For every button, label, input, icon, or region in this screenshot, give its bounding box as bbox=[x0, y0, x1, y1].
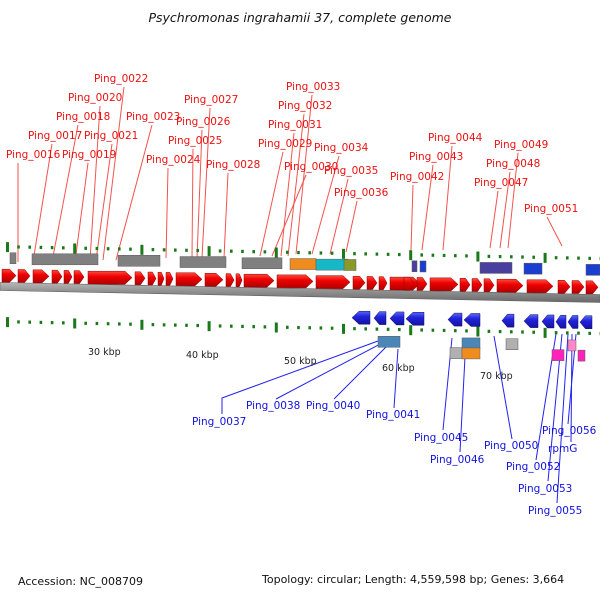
tick-mark bbox=[196, 324, 199, 327]
tick-mark bbox=[465, 329, 468, 332]
gene-label-reverse[interactable]: Ping_0041 bbox=[366, 409, 420, 421]
gene-label-forward[interactable]: Ping_0028 bbox=[206, 159, 260, 171]
gene-label-forward[interactable]: Ping_0043 bbox=[409, 151, 463, 163]
tick-mark bbox=[353, 327, 356, 330]
tick-mark bbox=[152, 248, 155, 251]
gene-arrow[interactable] bbox=[277, 275, 313, 288]
tick-mark bbox=[577, 257, 580, 260]
tick-mark bbox=[286, 251, 289, 254]
gene-arrow[interactable] bbox=[472, 279, 482, 292]
gene-arrow[interactable] bbox=[148, 272, 156, 285]
domain-block[interactable] bbox=[180, 257, 226, 268]
tick-mark bbox=[174, 323, 177, 326]
tick-mark bbox=[140, 245, 143, 255]
tick-mark bbox=[219, 249, 222, 252]
gene-label-forward[interactable]: Ping_0016 bbox=[6, 149, 61, 161]
genome-map-canvas[interactable]: Psychromonas ingrahamii 37, complete gen… bbox=[0, 0, 600, 600]
tick-mark bbox=[264, 325, 267, 328]
domain-block[interactable] bbox=[420, 261, 426, 272]
leader-line bbox=[494, 336, 512, 439]
gene-arrow[interactable] bbox=[166, 272, 173, 285]
tick-mark bbox=[387, 253, 390, 256]
domain-block[interactable] bbox=[344, 260, 356, 271]
tick-mark bbox=[532, 256, 535, 259]
tick-mark bbox=[219, 324, 222, 327]
gene-arrow[interactable] bbox=[374, 312, 386, 325]
domain-block[interactable] bbox=[552, 350, 564, 361]
gene-arrow[interactable] bbox=[558, 280, 570, 293]
tick-mark bbox=[499, 330, 502, 333]
tick-mark bbox=[521, 255, 524, 258]
gene-label-forward[interactable]: Ping_0036 bbox=[334, 187, 389, 199]
tick-mark bbox=[208, 246, 211, 256]
gene-label-forward[interactable]: Ping_0022 bbox=[94, 73, 148, 85]
tick-mark bbox=[241, 325, 244, 328]
gene-label-forward[interactable]: Ping_0018 bbox=[56, 111, 110, 123]
tick-mark bbox=[196, 249, 199, 252]
tick-mark bbox=[40, 321, 43, 324]
tick-mark bbox=[555, 331, 558, 334]
gene-arrow[interactable] bbox=[586, 281, 598, 294]
genome-map-view: Psychromonas ingrahamii 37, complete gen… bbox=[0, 0, 600, 600]
tick-mark bbox=[409, 325, 412, 335]
tick-mark bbox=[230, 250, 233, 253]
gene-arrow[interactable] bbox=[135, 272, 145, 285]
tick-mark bbox=[129, 323, 132, 326]
gene-arrow[interactable] bbox=[556, 315, 566, 328]
tick-mark bbox=[398, 253, 401, 256]
tick-mark bbox=[96, 247, 99, 250]
leader-line bbox=[166, 168, 168, 258]
tick-mark bbox=[566, 256, 569, 259]
gene-arrow[interactable] bbox=[33, 270, 49, 283]
gene-label-forward[interactable]: Ping_0024 bbox=[146, 154, 201, 166]
gene-arrow[interactable] bbox=[542, 315, 554, 328]
gene-arrow[interactable] bbox=[417, 277, 427, 290]
tick-mark bbox=[140, 320, 143, 330]
gene-arrow[interactable] bbox=[406, 312, 424, 325]
gene-arrow[interactable] bbox=[352, 311, 370, 324]
domain-block[interactable] bbox=[462, 348, 480, 359]
tick-mark bbox=[320, 326, 323, 329]
tick-mark bbox=[73, 243, 76, 253]
gene-label-reverse[interactable]: Ping_0038 bbox=[246, 400, 300, 412]
tick-mark bbox=[84, 247, 87, 250]
gene-label-forward[interactable]: Ping_0019 bbox=[62, 149, 116, 161]
tick-mark bbox=[364, 252, 367, 255]
scale-tick-label: 50 kbp bbox=[284, 356, 317, 367]
gene-label-reverse[interactable]: Ping_0055 bbox=[528, 505, 582, 517]
domain-block[interactable] bbox=[290, 259, 316, 270]
gene-arrow[interactable] bbox=[390, 312, 404, 325]
tick-mark bbox=[275, 247, 278, 257]
gene-label-forward[interactable]: Ping_0048 bbox=[486, 158, 540, 170]
leader-line bbox=[197, 130, 202, 258]
leader-line bbox=[411, 185, 413, 250]
forward-gene-labels[interactable]: Ping_0016Ping_0017Ping_0018Ping_0019Ping… bbox=[6, 73, 578, 215]
tick-mark bbox=[17, 245, 20, 248]
domain-block[interactable] bbox=[450, 348, 462, 359]
tick-mark bbox=[51, 321, 54, 324]
leader-line bbox=[490, 191, 498, 248]
scale-tick-label: 30 kbp bbox=[88, 347, 121, 358]
tick-mark bbox=[308, 326, 311, 329]
tick-mark bbox=[230, 325, 233, 328]
tick-mark bbox=[174, 248, 177, 251]
tick-mark bbox=[185, 324, 188, 327]
tick-mark bbox=[129, 248, 132, 251]
tick-mark bbox=[118, 322, 121, 325]
domain-block[interactable] bbox=[10, 253, 16, 264]
leader-line bbox=[281, 133, 294, 256]
domain-block[interactable] bbox=[118, 255, 160, 266]
tick-mark bbox=[252, 250, 255, 253]
tick-mark bbox=[476, 327, 479, 337]
tick-mark bbox=[409, 250, 412, 260]
gene-label-reverse[interactable]: Ping_0050 bbox=[484, 440, 538, 452]
gene-label-forward[interactable]: Ping_0031 bbox=[268, 119, 322, 131]
gene-label-forward[interactable]: Ping_0032 bbox=[278, 100, 332, 112]
gene-label-reverse[interactable]: Ping_0040 bbox=[306, 400, 360, 412]
domain-block[interactable] bbox=[462, 338, 480, 349]
tick-mark bbox=[588, 257, 591, 260]
domain-block[interactable] bbox=[32, 254, 98, 265]
tick-mark bbox=[275, 322, 278, 332]
domain-block[interactable] bbox=[578, 350, 585, 361]
tick-mark bbox=[28, 246, 31, 249]
tick-mark bbox=[152, 323, 155, 326]
leader-line bbox=[33, 144, 52, 262]
tick-mark bbox=[376, 253, 379, 256]
tick-mark bbox=[208, 321, 211, 331]
gene-label-reverse[interactable]: Ping_0056 bbox=[542, 425, 597, 437]
gene-arrow[interactable] bbox=[524, 315, 538, 328]
tick-mark bbox=[73, 318, 76, 328]
tick-mark bbox=[544, 328, 547, 338]
tick-mark bbox=[118, 247, 121, 250]
tick-mark bbox=[544, 253, 547, 263]
gene-arrow[interactable] bbox=[64, 270, 72, 283]
leader-line bbox=[52, 125, 78, 262]
tick-mark bbox=[521, 330, 524, 333]
tick-mark bbox=[297, 326, 300, 329]
gene-label-forward[interactable]: Ping_0035 bbox=[324, 165, 378, 177]
leader-line bbox=[202, 108, 210, 258]
page-title: Psychromonas ingrahamii 37, complete gen… bbox=[148, 10, 451, 25]
gene-label-reverse[interactable]: Ping_0046 bbox=[430, 454, 485, 466]
gene-label-forward[interactable]: Ping_0047 bbox=[474, 177, 528, 189]
domain-block[interactable] bbox=[480, 262, 512, 273]
tick-mark bbox=[40, 246, 43, 249]
tick-mark bbox=[252, 325, 255, 328]
tick-mark bbox=[107, 247, 110, 250]
leader-line bbox=[276, 341, 386, 399]
tick-mark bbox=[510, 330, 513, 333]
tick-mark bbox=[476, 252, 479, 262]
gene-label-forward[interactable]: Ping_0033 bbox=[286, 81, 340, 93]
gene-arrow[interactable] bbox=[430, 278, 458, 291]
tick-mark bbox=[443, 254, 446, 257]
tick-mark bbox=[432, 329, 435, 332]
tick-mark bbox=[376, 328, 379, 331]
gene-arrow[interactable] bbox=[367, 276, 377, 289]
tick-mark bbox=[62, 246, 65, 249]
tick-mark bbox=[488, 330, 491, 333]
tick-mark bbox=[353, 252, 356, 255]
tick-mark bbox=[443, 329, 446, 332]
tick-mark bbox=[387, 328, 390, 331]
tick-mark bbox=[84, 322, 87, 325]
gene-label-forward[interactable]: Ping_0021 bbox=[84, 130, 138, 142]
tick-mark bbox=[96, 322, 99, 325]
domain-block[interactable] bbox=[568, 340, 576, 351]
tick-mark bbox=[532, 331, 535, 334]
tick-mark bbox=[51, 246, 54, 249]
gene-label-forward[interactable]: Ping_0023 bbox=[126, 111, 180, 123]
leader-line bbox=[346, 201, 357, 252]
accession-label: Accession: NC_008709 bbox=[18, 575, 143, 588]
tick-mark bbox=[420, 328, 423, 331]
tick-mark bbox=[588, 332, 591, 335]
scale-tick-label: 70 kbp bbox=[480, 371, 513, 382]
gene-arrow[interactable] bbox=[74, 271, 84, 284]
tick-mark bbox=[308, 251, 311, 254]
leader-line bbox=[116, 125, 152, 260]
leader-line bbox=[224, 173, 228, 258]
gene-label-forward[interactable]: Ping_0025 bbox=[168, 135, 222, 147]
gene-arrow[interactable] bbox=[244, 274, 274, 287]
gene-arrow[interactable] bbox=[527, 280, 553, 293]
gene-arrow[interactable] bbox=[497, 279, 523, 292]
leader-line bbox=[547, 217, 562, 246]
gene-label-reverse[interactable]: Ping_0053 bbox=[518, 483, 572, 495]
gene-arrow[interactable] bbox=[205, 273, 223, 286]
tick-mark bbox=[185, 249, 188, 252]
reverse-gene-arrows[interactable] bbox=[352, 311, 592, 329]
domain-block[interactable] bbox=[586, 264, 600, 275]
gene-arrow[interactable] bbox=[464, 313, 480, 326]
domain-block[interactable] bbox=[524, 263, 542, 274]
tick-mark bbox=[566, 331, 569, 334]
gene-label-forward[interactable]: Ping_0026 bbox=[176, 116, 231, 128]
tick-mark bbox=[6, 317, 9, 327]
gene-arrow[interactable] bbox=[52, 270, 62, 283]
tick-mark bbox=[163, 248, 166, 251]
gene-arrow[interactable] bbox=[88, 271, 132, 284]
tick-mark bbox=[488, 255, 491, 258]
gene-arrow[interactable] bbox=[379, 277, 387, 290]
leader-line bbox=[260, 152, 283, 256]
scale-tick-label: 60 kbp bbox=[382, 363, 415, 374]
tick-mark bbox=[241, 250, 244, 253]
genome-stats-label: Topology: circular; Length: 4,559,598 bp… bbox=[261, 573, 564, 586]
tick-mark bbox=[107, 322, 110, 325]
gene-label-reverse[interactable]: Ping_0037 bbox=[192, 416, 246, 428]
gene-arrow[interactable] bbox=[572, 281, 584, 294]
gene-label-forward[interactable]: Ping_0051 bbox=[524, 203, 578, 215]
scale-tick-label: 40 kbp bbox=[186, 350, 219, 361]
gene-arrow[interactable] bbox=[484, 279, 494, 292]
gene-arrow[interactable] bbox=[226, 274, 234, 287]
tick-mark bbox=[286, 326, 289, 329]
gene-arrow[interactable] bbox=[316, 276, 350, 289]
gene-label-reverse[interactable]: rpmG bbox=[548, 443, 577, 455]
tick-mark bbox=[342, 249, 345, 259]
gene-label-forward[interactable]: Ping_0020 bbox=[68, 92, 122, 104]
gene-arrow[interactable] bbox=[353, 276, 365, 289]
tick-mark bbox=[398, 328, 401, 331]
gene-label-reverse[interactable]: Ping_0052 bbox=[506, 461, 560, 473]
tick-mark bbox=[17, 320, 20, 323]
gene-arrow[interactable] bbox=[448, 313, 462, 326]
gene-label-forward[interactable]: Ping_0049 bbox=[494, 139, 548, 151]
tick-mark bbox=[465, 254, 468, 257]
gene-arrow[interactable] bbox=[158, 272, 164, 285]
tick-mark bbox=[454, 329, 457, 332]
tick-mark bbox=[264, 250, 267, 253]
tick-mark bbox=[163, 323, 166, 326]
domain-block[interactable] bbox=[506, 339, 518, 350]
gene-arrow[interactable] bbox=[580, 316, 592, 329]
tick-mark bbox=[432, 254, 435, 257]
gene-label-reverse[interactable]: Ping_0045 bbox=[414, 432, 468, 444]
gene-label-forward[interactable]: Ping_0029 bbox=[258, 138, 312, 150]
tick-mark bbox=[320, 251, 323, 254]
tick-mark bbox=[555, 256, 558, 259]
domain-block[interactable] bbox=[378, 336, 400, 347]
tick-mark bbox=[28, 321, 31, 324]
gene-arrow[interactable] bbox=[2, 269, 16, 282]
gene-arrow[interactable] bbox=[502, 314, 514, 327]
gene-arrow[interactable] bbox=[18, 269, 30, 282]
tick-mark bbox=[331, 252, 334, 255]
tick-mark bbox=[62, 321, 65, 324]
gene-arrow[interactable] bbox=[568, 315, 578, 328]
gene-arrow[interactable] bbox=[176, 273, 202, 286]
leader-line bbox=[394, 349, 398, 408]
tick-mark bbox=[297, 251, 300, 254]
gene-arrow[interactable] bbox=[460, 278, 470, 291]
gene-arrow[interactable] bbox=[236, 274, 242, 287]
domain-block[interactable] bbox=[242, 258, 282, 269]
gene-label-forward[interactable]: Ping_0044 bbox=[428, 132, 483, 144]
domain-block[interactable] bbox=[412, 261, 417, 272]
tick-mark bbox=[331, 327, 334, 330]
tick-mark bbox=[510, 255, 513, 258]
domain-block[interactable] bbox=[316, 259, 348, 270]
tick-mark bbox=[364, 327, 367, 330]
tick-mark bbox=[420, 253, 423, 256]
tick-mark bbox=[6, 242, 9, 252]
gene-label-forward[interactable]: Ping_0027 bbox=[184, 94, 238, 106]
tick-mark bbox=[499, 255, 502, 258]
gene-label-forward[interactable]: Ping_0042 bbox=[390, 171, 444, 183]
tick-mark bbox=[454, 254, 457, 257]
gene-label-forward[interactable]: Ping_0034 bbox=[314, 142, 369, 154]
tick-mark bbox=[342, 324, 345, 334]
gene-label-forward[interactable]: Ping_0017 bbox=[28, 130, 82, 142]
tick-mark bbox=[577, 332, 580, 335]
